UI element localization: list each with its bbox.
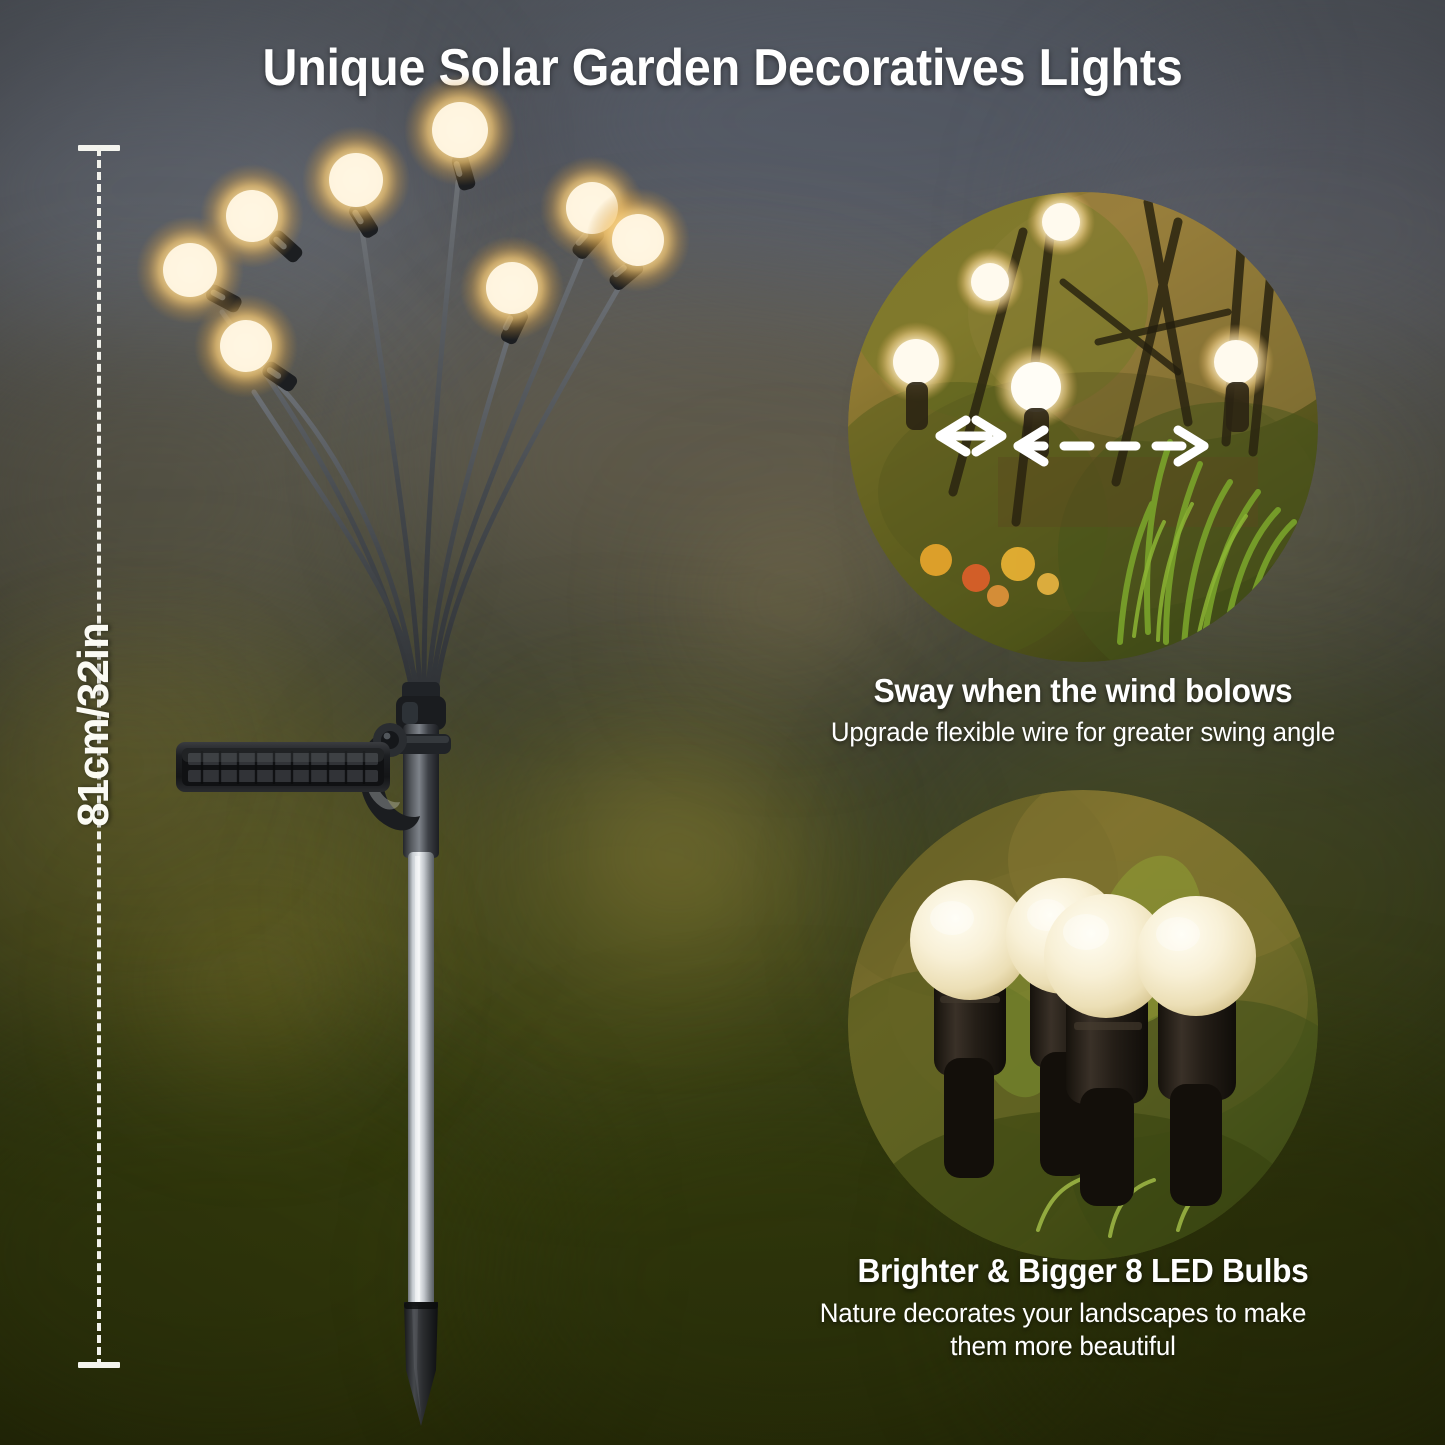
led-bulb — [460, 236, 564, 346]
feature-heading: Sway when the wind bolows — [795, 672, 1371, 710]
feature-caption-sway: Sway when the wind bolows Upgrade flexib… — [783, 672, 1383, 748]
product-infographic: Unique Solar Garden Decoratives Lights 8… — [0, 0, 1445, 1445]
scene-bulb — [956, 248, 1024, 316]
measurement-ruler: 81cm/32in — [60, 140, 150, 1375]
led-bulb — [302, 126, 410, 240]
led-bulb — [200, 164, 305, 268]
wire-hub — [396, 682, 446, 730]
ruler-cap-bottom — [78, 1362, 120, 1368]
pole-main — [408, 852, 434, 1312]
feature-photo-sway — [848, 192, 1318, 662]
led-bulb — [404, 74, 516, 192]
feature-caption-bulbs: Brighter & Bigger 8 LED Bulbs Nature dec… — [783, 1252, 1383, 1363]
product-image-firefly-light — [140, 130, 720, 1390]
led-bulb — [194, 294, 299, 398]
feature-subtext: Upgrade flexible wire for greater swing … — [795, 717, 1371, 748]
led-bulb — [586, 188, 690, 292]
feature-photo-bulbs — [848, 790, 1318, 1260]
feature-heading: Brighter & Bigger 8 LED Bulbs — [795, 1252, 1371, 1290]
feature-subtext: Nature decorates your landscapes to make… — [794, 1297, 1332, 1363]
measurement-label: 81cm/32in — [69, 565, 119, 885]
page-title: Unique Solar Garden Decoratives Lights — [51, 38, 1395, 98]
